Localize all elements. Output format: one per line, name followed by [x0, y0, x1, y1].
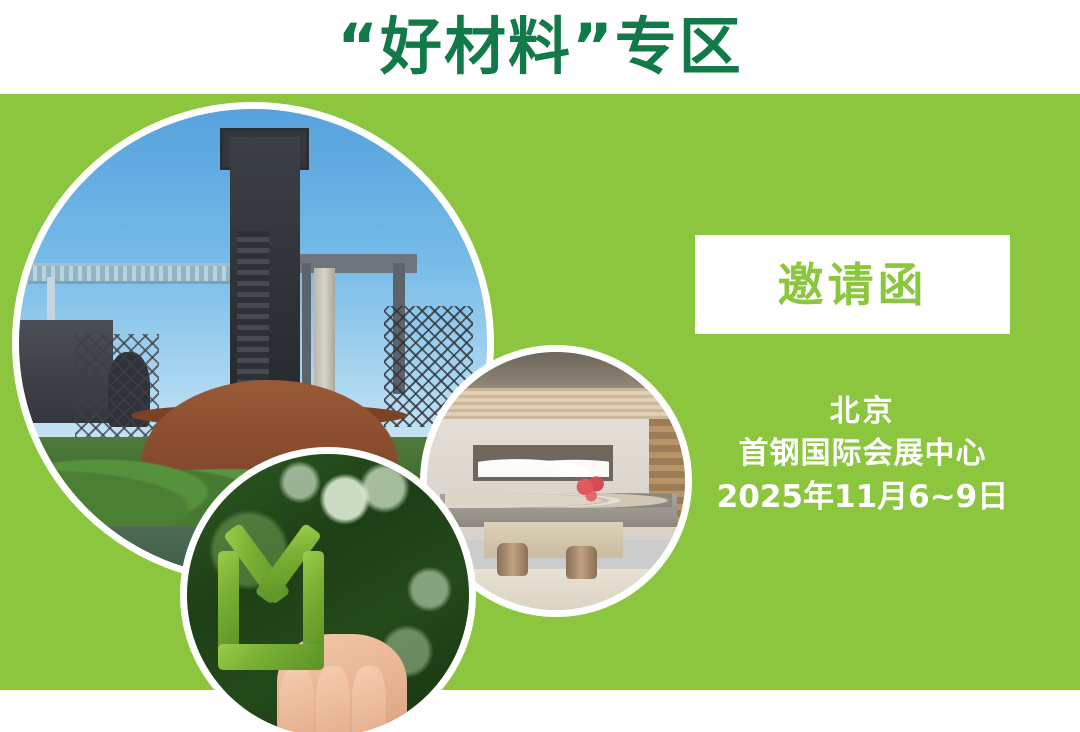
venue-date: 2025年11月6~9日: [690, 475, 1035, 519]
conveyor-bridge: [28, 263, 243, 284]
invitation-card: 邀请函: [695, 235, 1010, 334]
page-title: “好材料”专区: [337, 16, 743, 78]
flower-vase: [574, 476, 610, 512]
finger-3: [352, 666, 386, 732]
photo-circle-green-house: [180, 447, 476, 732]
finger-1: [280, 666, 314, 732]
cushions: [445, 489, 672, 512]
invitation-label: 邀请函: [778, 262, 928, 308]
poster-root: “好材料”专区: [0, 0, 1080, 732]
wall-right: [303, 551, 324, 655]
stool-right: [566, 546, 597, 580]
grass-house-model: [215, 488, 356, 674]
stool-left: [497, 543, 528, 577]
finger-2: [316, 666, 350, 732]
page-title-bar: “好材料”专区: [0, 0, 1080, 94]
ceiling-slats: [427, 388, 685, 419]
cursor-arrow-icon: [955, 692, 1019, 732]
white-chimney: [314, 268, 335, 399]
venue-info-block: 北京 首钢国际会展中心 2025年11月6~9日: [690, 392, 1035, 519]
wall-left: [218, 551, 239, 655]
venue-city: 北京: [690, 392, 1035, 433]
interior-ceiling: [427, 352, 685, 393]
green-house-photo: [187, 454, 469, 732]
house-base: [218, 644, 324, 670]
venue-place: 首钢国际会展中心: [690, 433, 1035, 476]
gantry-leg-left: [302, 263, 311, 389]
steel-lattice-left: [75, 334, 159, 437]
